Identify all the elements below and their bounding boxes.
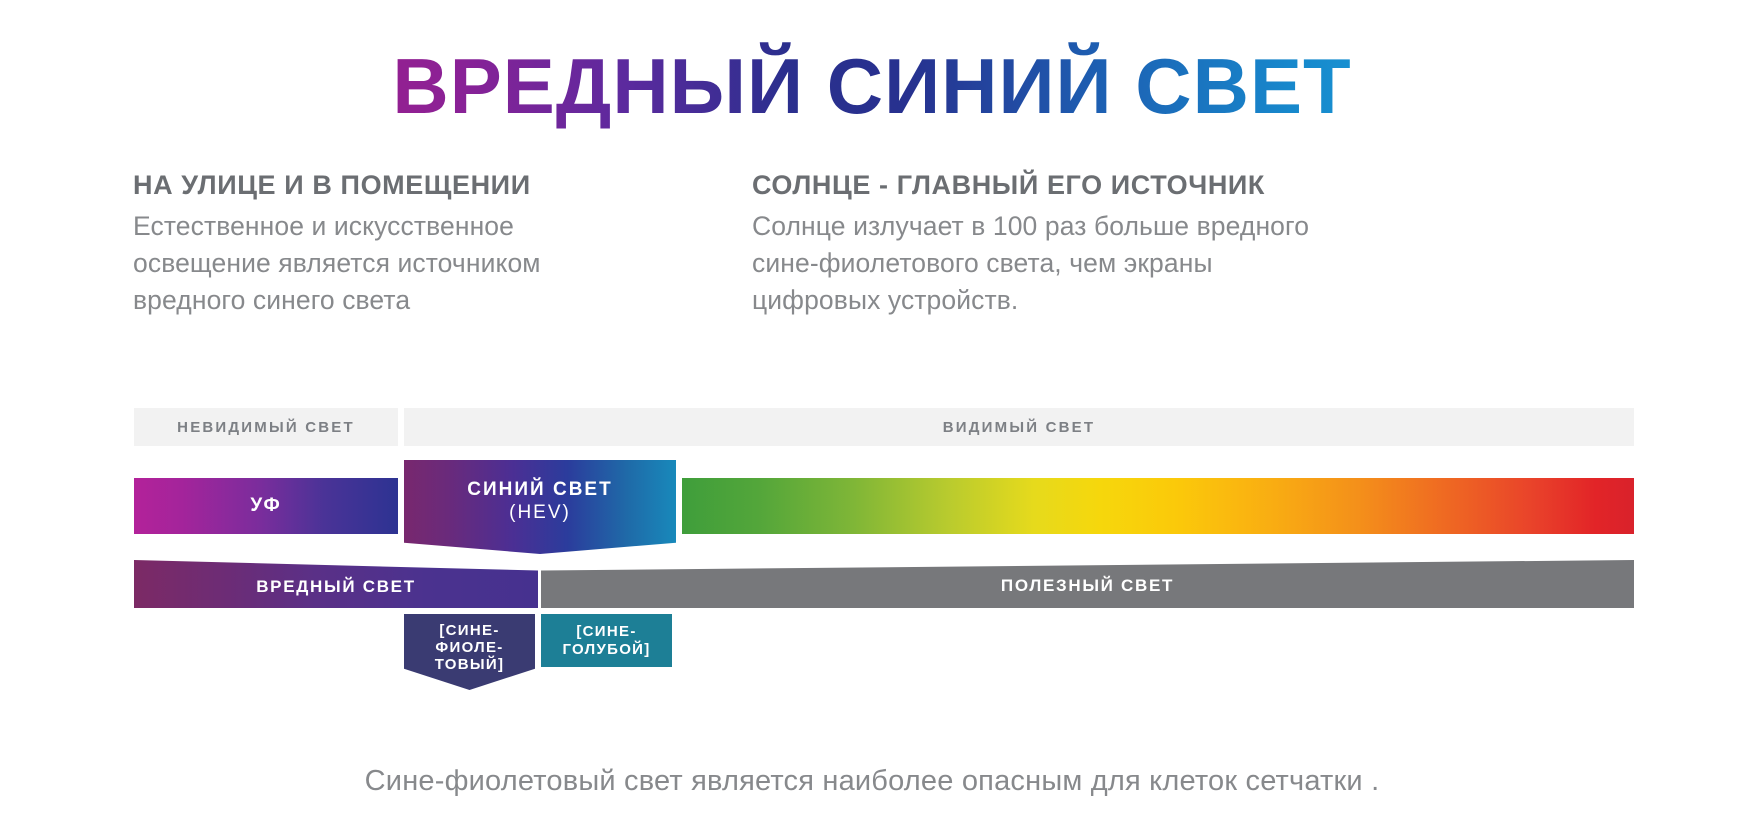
chip-blue-turquoise-line-2: ГОЛУБОЙ] [562,641,650,659]
classification-useful: ПОЛЕЗНЫЙ СВЕТ [541,560,1634,608]
segment-blue-light-sublabel: (HEV) [509,501,571,524]
classification-harmful: ВРЕДНЫЙ СВЕТ [134,560,538,608]
chip-blue-turquoise-line-1: [СИНЕ- [576,623,636,641]
segment-uv-label: УФ [134,478,398,534]
segment-blue-light-label: СИНИЙ СВЕТ [467,478,612,501]
chip-blue-violet-line-3: ТОВЫЙ] [404,656,535,673]
segment-blue-light-hev: СИНИЙ СВЕТ (HEV) [404,460,676,554]
chip-blue-violet-line-2: ФИОЛЕ- [404,639,535,656]
chip-blue-violet-line-1: [СИНЕ- [404,622,535,639]
spectrum-diagram: НЕВИДИМЫЙ СВЕТ ВИДИМЫЙ СВЕТ УФ СИНИЙ СВЕ… [0,0,1744,827]
chip-blue-turquoise: [СИНЕ- ГОЛУБОЙ] [541,614,672,667]
infographic-root: ВРЕДНЫЙ СИНИЙ СВЕТ НА УЛИЦЕ И В ПОМЕЩЕНИ… [0,0,1744,827]
band-visible-light: ВИДИМЫЙ СВЕТ [404,408,1634,446]
classification-harmful-label: ВРЕДНЫЙ СВЕТ [134,560,538,608]
footer-caption: Сине-фиолетовый свет является наиболее о… [0,765,1744,798]
chip-blue-violet: [СИНЕ- ФИОЛЕ- ТОВЫЙ] [404,614,535,690]
segment-visible-rainbow [682,478,1634,534]
classification-useful-label: ПОЛЕЗНЫЙ СВЕТ [541,560,1634,608]
band-invisible-light: НЕВИДИМЫЙ СВЕТ [134,408,398,446]
segment-uv: УФ [134,478,398,534]
